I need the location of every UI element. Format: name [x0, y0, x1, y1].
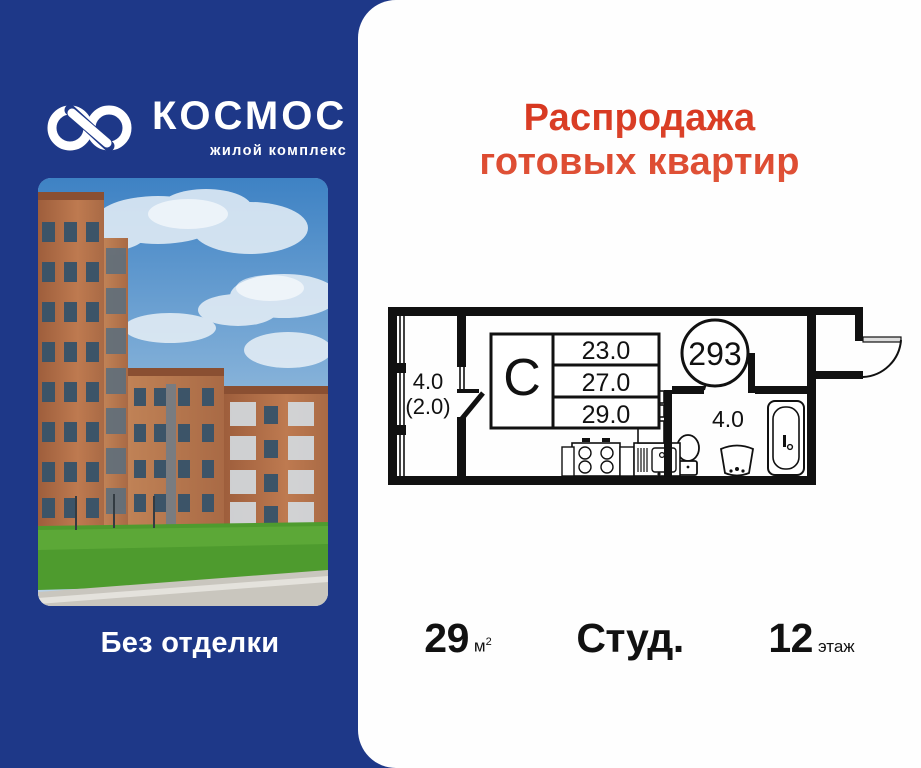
listing-card: КОСМОС жилой комплекс: [0, 0, 921, 768]
stove-icon: [572, 438, 620, 476]
infinity-icon: [46, 102, 134, 154]
brand-logo: КОСМОС жилой комплекс: [46, 96, 347, 159]
brand-tagline: жилой комплекс: [152, 143, 347, 159]
promo-headline-line1: Распродажа: [524, 97, 756, 139]
promo-headline: Распродажа готовых квартир: [358, 96, 921, 184]
brand-panel: КОСМОС жилой комплекс: [0, 0, 380, 768]
stat-area: 29 м2: [424, 615, 491, 662]
finish-label: Без отделки: [0, 627, 380, 660]
offer-panel: Распродажа готовых квартир: [358, 0, 921, 768]
brand-text: КОСМОС жилой комплекс: [152, 96, 347, 159]
bathroom-area-label: 4.0: [712, 406, 744, 432]
sink-icon: [634, 443, 680, 476]
stat-area-unit: м2: [474, 636, 492, 657]
brand-name: КОСМОС: [152, 96, 347, 136]
building-photo: [38, 178, 328, 606]
apartment-type-letter: С: [503, 349, 541, 407]
floor-plan: 4.0 (2.0) 4.0: [376, 285, 906, 515]
stat-floor: 12 этаж: [768, 615, 854, 662]
stat-layout-value: Студ.: [576, 615, 683, 662]
washbasin-icon: [721, 446, 753, 476]
apartment-stats: 29 м2 Студ. 12 этаж: [358, 615, 921, 662]
building-photo-illustration: [38, 178, 328, 606]
stat-area-value: 29: [424, 615, 469, 662]
area-table: С 23.0 27.0 29.0: [491, 334, 659, 429]
living-area-value: 23.0: [582, 337, 631, 365]
balcony-area-label: 4.0: [413, 369, 444, 394]
stat-floor-value: 12: [768, 615, 813, 662]
apartment-number-badge: 293: [682, 320, 748, 386]
floor-plan-drawing: 4.0 (2.0) 4.0: [376, 285, 906, 515]
usable-area-value: 27.0: [582, 369, 631, 397]
stat-layout: Студ.: [576, 615, 683, 662]
promo-headline-line2: готовых квартир: [479, 141, 799, 183]
bathtub-icon: [768, 401, 804, 475]
total-area-value: 29.0: [582, 401, 631, 429]
stat-floor-unit: этаж: [818, 637, 855, 657]
balcony-coefficient-label: (2.0): [405, 394, 450, 419]
apartment-number-label: 293: [688, 336, 741, 372]
